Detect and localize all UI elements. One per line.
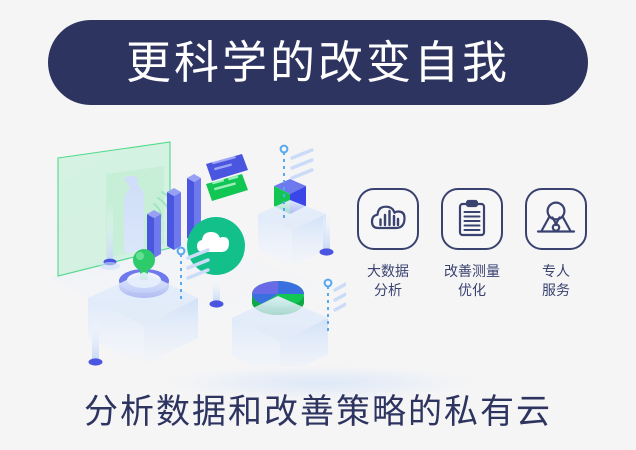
cloud-bar-chart-icon	[357, 188, 419, 250]
promo-banner-page: 更科学的改变自我	[0, 0, 636, 450]
bottom-caption: 分析数据和改善策略的私有云	[0, 384, 636, 433]
feature-list: 大数据 分析 改善测量	[352, 188, 592, 333]
feature-label-line-2: 服务	[542, 282, 570, 298]
feature-label-measurement-optimization: 改善测量 优化	[436, 262, 508, 300]
isometric-illustration	[46, 126, 346, 366]
feature-label-line-1: 改善测量	[444, 263, 500, 279]
feature-label-big-data-analysis: 大数据 分析	[352, 262, 424, 300]
glass-pedestal-cube-right-top	[258, 200, 326, 266]
feature-label-line-2: 优化	[458, 282, 486, 298]
feature-label-line-1: 专人	[542, 263, 570, 279]
feature-item-measurement-optimization[interactable]: 改善测量 优化	[436, 188, 508, 333]
feature-label-line-1: 大数据	[367, 263, 409, 279]
feature-item-dedicated-service[interactable]: 专人 服务	[520, 188, 592, 333]
feature-label-line-2: 分析	[374, 282, 402, 298]
person-stethoscope-icon	[525, 188, 587, 250]
feature-item-big-data-analysis[interactable]: 大数据 分析	[352, 188, 424, 333]
header-banner: 更科学的改变自我	[48, 20, 588, 105]
clipboard-icon	[441, 188, 503, 250]
feature-label-dedicated-service: 专人 服务	[520, 262, 592, 300]
banner-title: 更科学的改变自我	[126, 40, 510, 85]
